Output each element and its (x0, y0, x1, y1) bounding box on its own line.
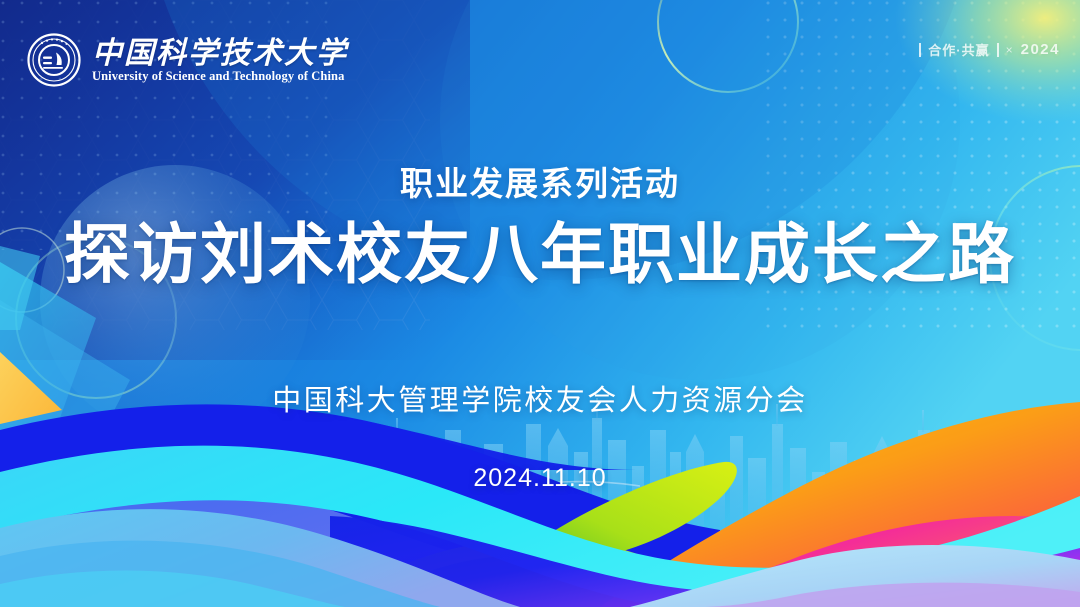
ustc-brand-lockup: 中国科学技术大学 University of Science and Techn… (26, 32, 348, 88)
slogan-year: 2024 (1021, 41, 1060, 58)
corner-slogan-tag: 合作·共赢 × 2024 (919, 40, 1060, 59)
event-poster: 中国科学技术大学 University of Science and Techn… (0, 0, 1080, 607)
brand-name-en: University of Science and Technology of … (92, 70, 348, 83)
slogan-separator: × (1006, 43, 1014, 57)
slogan-text: 合作·共赢 (928, 40, 989, 59)
ustc-seal-emblem (26, 32, 82, 88)
slogan-bar-left (919, 43, 921, 57)
brand-name-cn: 中国科学技术大学 (92, 38, 348, 70)
slogan-bar-right (997, 43, 999, 57)
poster-header: 中国科学技术大学 University of Science and Techn… (0, 0, 1080, 125)
